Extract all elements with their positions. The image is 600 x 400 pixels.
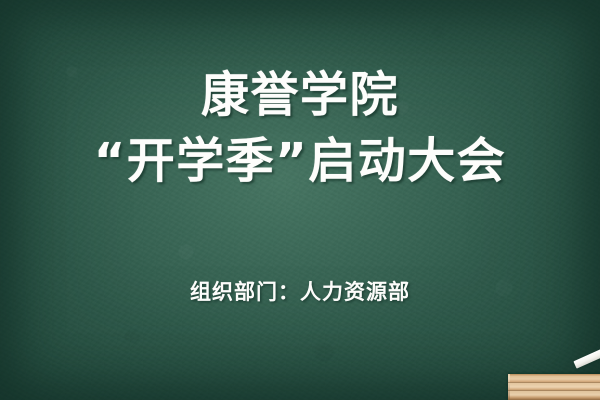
chalk-ledge-icon xyxy=(508,374,600,400)
chalk-ledge-left-cap xyxy=(508,374,510,400)
slide-subtitle-organizing-department: 组织部门：人力资源部 xyxy=(0,278,600,306)
title-line-2: “开学季”启动大会 xyxy=(0,128,600,194)
slide-title: 康誉学院 “开学季”启动大会 xyxy=(0,62,600,194)
slide-content: 康誉学院 “开学季”启动大会 组织部门：人力资源部 xyxy=(0,0,600,400)
chalk-ledge-groove xyxy=(508,382,600,383)
presentation-slide: 康誉学院 “开学季”启动大会 组织部门：人力资源部 xyxy=(0,0,600,400)
title-line-1: 康誉学院 xyxy=(0,62,600,128)
chalk-ledge-groove xyxy=(508,390,600,391)
